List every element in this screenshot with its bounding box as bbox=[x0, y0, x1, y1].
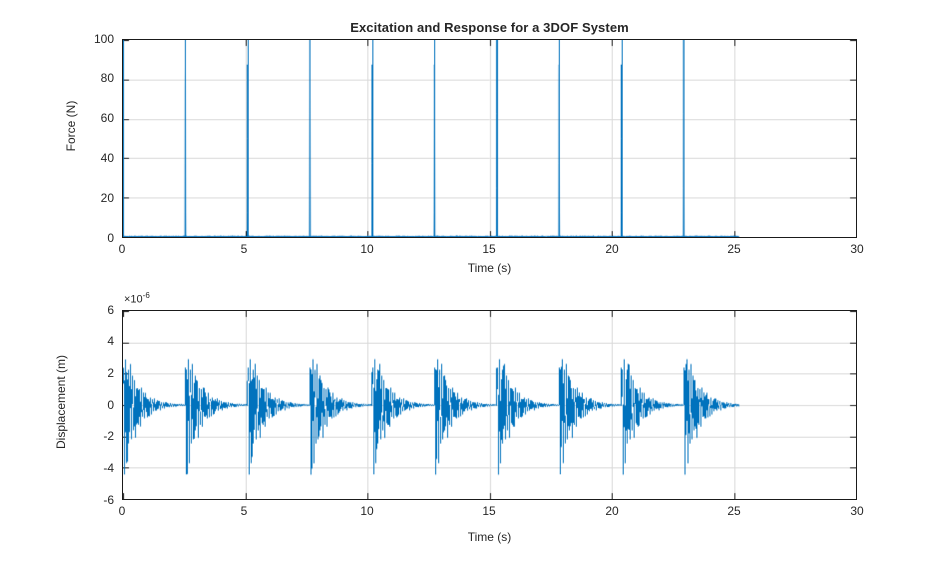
disp-ytick-neg4: -4 bbox=[56, 461, 114, 475]
disp-xtick-25: 25 bbox=[714, 504, 754, 518]
displacement-axes bbox=[122, 310, 857, 500]
disp-ytick-0: 0 bbox=[56, 398, 114, 412]
force-xtick-30: 30 bbox=[837, 242, 877, 256]
disp-xtick-0: 0 bbox=[102, 504, 142, 518]
disp-xtick-15: 15 bbox=[469, 504, 509, 518]
force-ytick-100: 100 bbox=[56, 32, 114, 46]
force-xtick-20: 20 bbox=[592, 242, 632, 256]
disp-ytick-4: 4 bbox=[56, 334, 114, 348]
disp-ytick-6: 6 bbox=[56, 303, 114, 317]
force-ytick-40: 40 bbox=[56, 151, 114, 165]
force-plot-canvas bbox=[123, 40, 856, 237]
force-ytick-80: 80 bbox=[56, 71, 114, 85]
figure-title: Excitation and Response for a 3DOF Syste… bbox=[122, 20, 857, 35]
disp-xtick-20: 20 bbox=[592, 504, 632, 518]
force-y-axis-label: Force (N) bbox=[64, 36, 78, 216]
force-xtick-0: 0 bbox=[102, 242, 142, 256]
force-ytick-60: 60 bbox=[56, 111, 114, 125]
force-xtick-15: 15 bbox=[469, 242, 509, 256]
exponent-power: -6 bbox=[143, 291, 150, 300]
disp-ytick-neg2: -2 bbox=[56, 429, 114, 443]
displacement-y-exponent: ×10-6 bbox=[124, 291, 150, 306]
exponent-base: ×10 bbox=[124, 294, 143, 306]
displacement-plot-canvas bbox=[123, 311, 856, 499]
disp-ytick-2: 2 bbox=[56, 366, 114, 380]
disp-xtick-10: 10 bbox=[347, 504, 387, 518]
force-xtick-5: 5 bbox=[224, 242, 264, 256]
displacement-x-axis-label: Time (s) bbox=[122, 530, 857, 544]
force-ytick-20: 20 bbox=[56, 191, 114, 205]
disp-xtick-30: 30 bbox=[837, 504, 877, 518]
force-x-axis-label: Time (s) bbox=[122, 261, 857, 275]
force-xtick-25: 25 bbox=[714, 242, 754, 256]
force-xtick-10: 10 bbox=[347, 242, 387, 256]
disp-xtick-5: 5 bbox=[224, 504, 264, 518]
matlab-figure-window: Excitation and Response for a 3DOF Syste… bbox=[0, 0, 946, 569]
force-axes bbox=[122, 39, 857, 238]
